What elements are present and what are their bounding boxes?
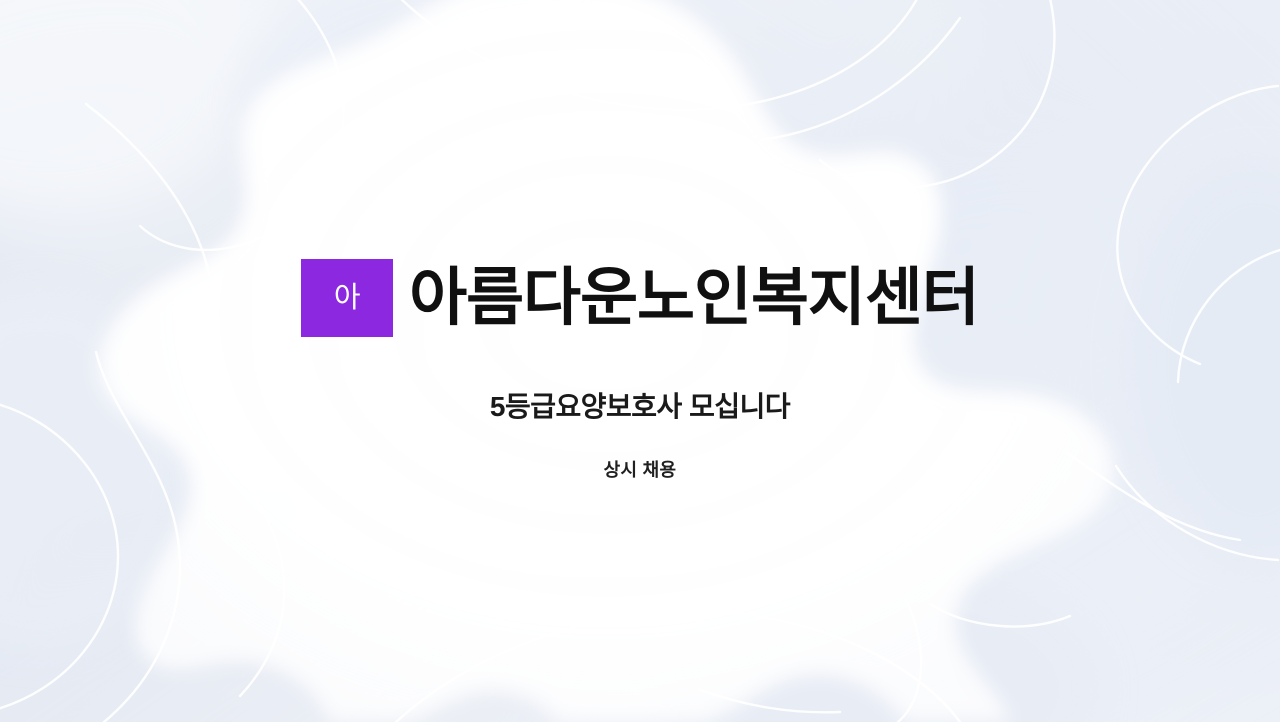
organization-badge: 아 [301, 259, 393, 337]
organization-title-row: 아 아름다운노인복지센터 [0, 255, 1280, 341]
poster-content: 아 아름다운노인복지센터 5등급요양보호사 모십니다 상시 채용 [0, 0, 1280, 722]
job-posting-poster: 아 아름다운노인복지센터 5등급요양보호사 모십니다 상시 채용 [0, 0, 1280, 722]
recruitment-type-label: 상시 채용 [0, 459, 1280, 482]
job-title: 5등급요양보호사 모십니다 [0, 390, 1280, 424]
organization-name: 아름다운노인복지센터 [409, 265, 979, 331]
